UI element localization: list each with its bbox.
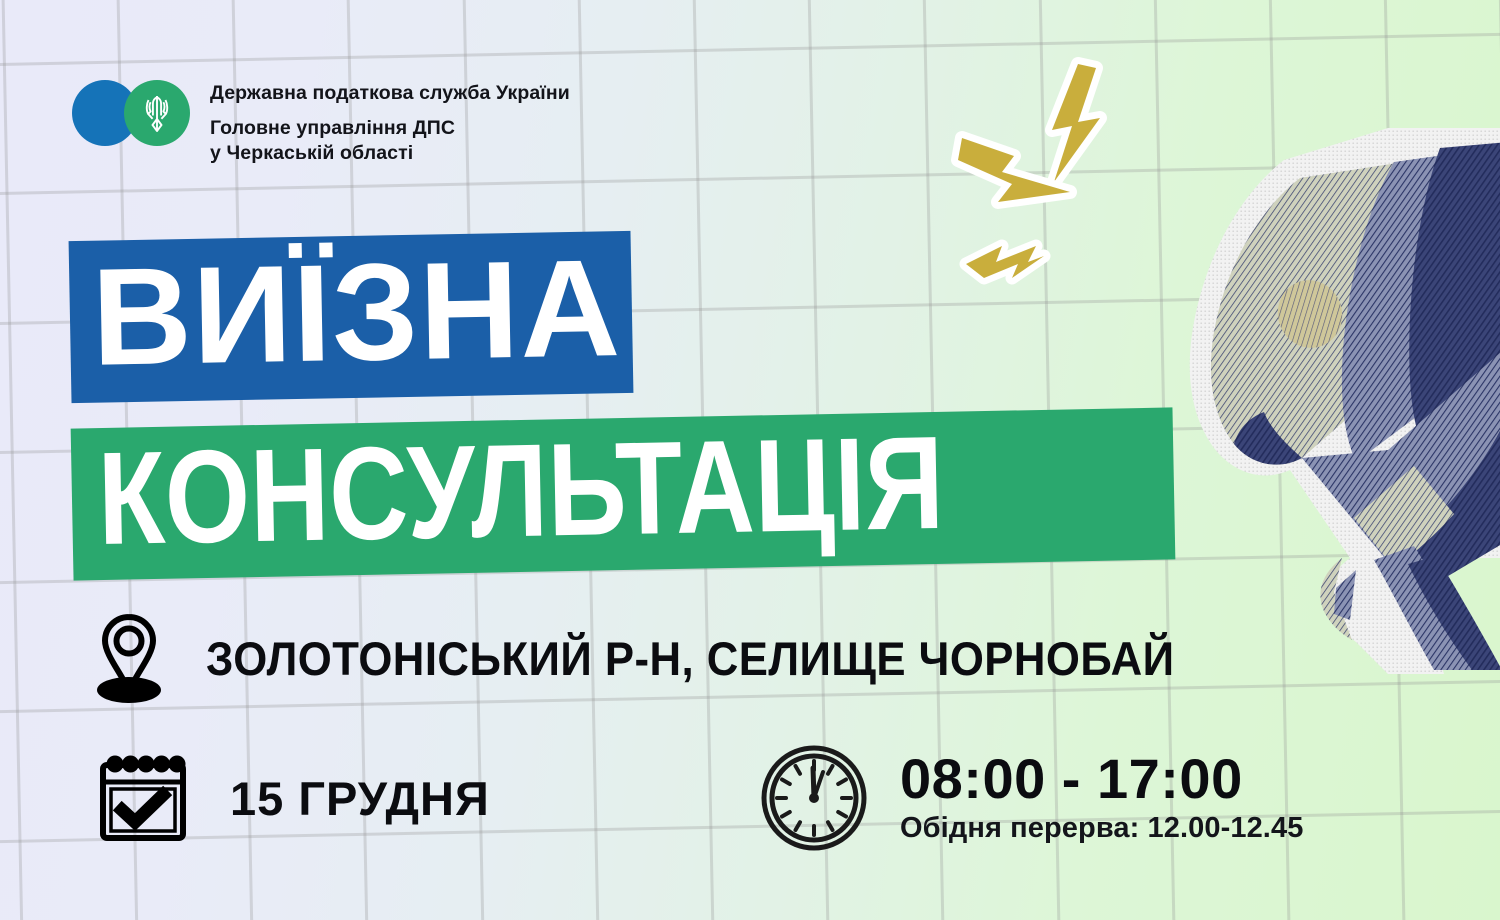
title-line-2: КОНСУЛЬТАЦІЯ [97,417,945,565]
megaphone-illustration [1088,118,1500,698]
time-row: 08:00 - 17:00 Обідня перерва: 12.00-12.4… [760,742,1303,854]
lunch-break-text: Обідня перерва: 12.00-12.45 [900,812,1303,845]
logo-green-circle-icon [124,80,190,146]
org-line-3: у Черкаській області [210,141,570,166]
lightning-bolt-icon [966,246,1044,278]
location-row: ЗОЛОТОНІСЬКИЙ Р-Н, СЕЛИЩЕ ЧОРНОБАЙ [96,612,1247,704]
grid-line-vertical [0,0,26,920]
title-line-1: ВИЇЗНА [91,239,622,387]
org-line-1: Державна податкова служба України [210,82,570,104]
poster-canvas: Державна податкова служба України Головн… [0,0,1500,920]
organization-text: Державна податкова служба України Головн… [210,82,570,166]
map-pin-icon [96,612,162,704]
date-row: 15 ГРУДНЯ [100,752,490,844]
date-text: 15 ГРУДНЯ [230,771,490,826]
location-text: ЗОЛОТОНІСЬКИЙ Р-Н, СЕЛИЩЕ ЧОРНОБАЙ [206,631,1175,686]
grid-line-horizontal [0,29,1500,71]
organization-logo: Державна податкова служба України Головн… [72,80,570,166]
calendar-check-icon [100,752,186,844]
org-line-2: Головне управління ДПС [210,116,570,141]
title-banner-primary: ВИЇЗНА [69,231,634,403]
time-range-text: 08:00 - 17:00 [900,751,1303,807]
title-banner-secondary: КОНСУЛЬТАЦІЯ [71,407,1176,580]
time-text-block: 08:00 - 17:00 Обідня перерва: 12.00-12.4… [900,751,1303,845]
clock-icon [760,742,868,854]
ukrainian-trident-icon [140,91,174,135]
